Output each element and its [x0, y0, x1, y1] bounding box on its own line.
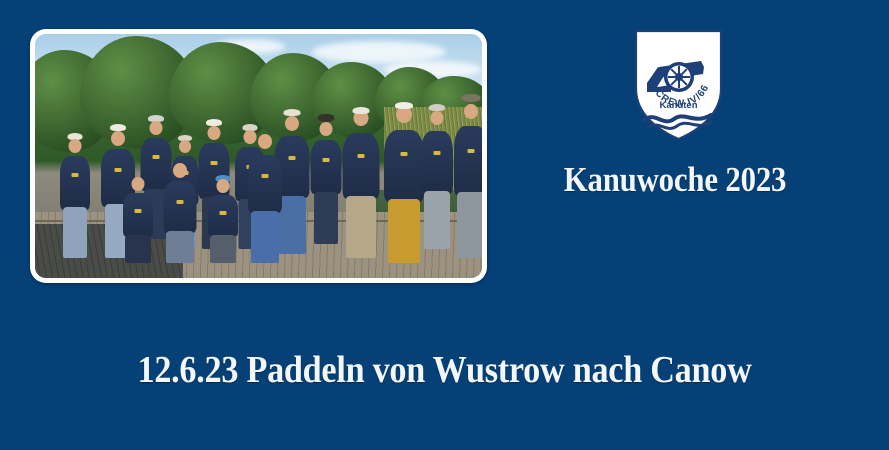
photo-frame: [30, 29, 487, 283]
poster-canvas: CREW IV/66 Kanuten Kanuwoche 2023 12.6.2…: [0, 0, 889, 450]
photo-person: [53, 136, 98, 258]
photo-person: [446, 97, 482, 258]
poster-caption: 12.6.23 Paddeln von Wustrow nach Canow: [44, 348, 844, 392]
group-photo: [35, 34, 482, 278]
page-title: Kanuwoche 2023: [521, 160, 829, 200]
shield-club-text: Kanuten: [660, 100, 698, 111]
photo-person: [241, 132, 290, 264]
crew-iv-66-kanuten-shield-logo: CREW IV/66 Kanuten: [631, 27, 726, 142]
photo-person: [156, 161, 205, 263]
photo-person: [115, 176, 160, 264]
photo-person: [200, 176, 245, 264]
